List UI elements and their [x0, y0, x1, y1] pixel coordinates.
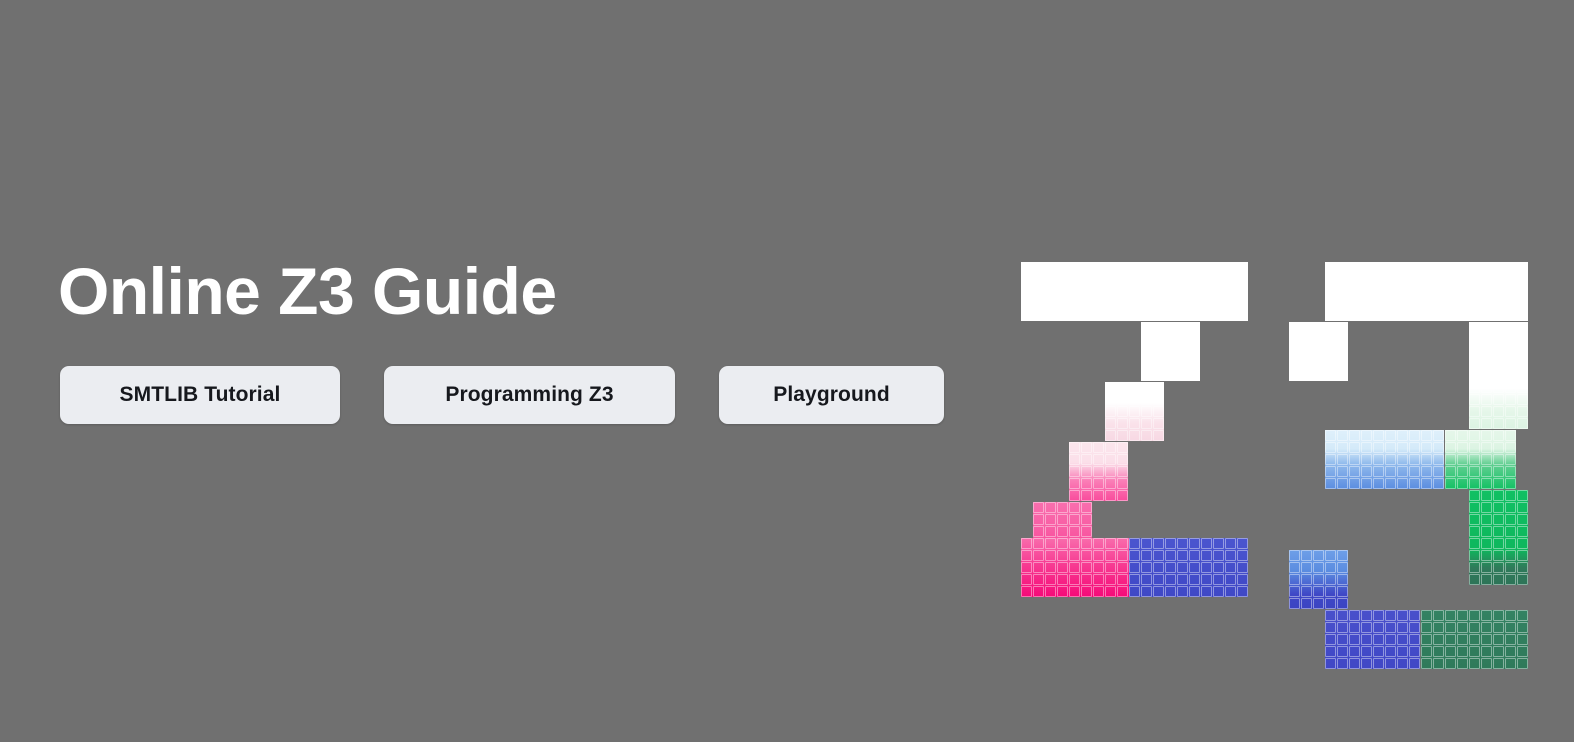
pixel-cell	[1325, 310, 1336, 321]
pixel-cell	[1517, 346, 1528, 357]
pixel-cell	[1325, 454, 1336, 465]
pixel-cell	[1153, 418, 1164, 429]
pixel-cell	[1457, 454, 1468, 465]
pixel-cell	[1129, 562, 1140, 573]
pixel-cell	[1301, 346, 1312, 357]
pixel-cell	[1481, 658, 1492, 669]
pixel-cell	[1505, 406, 1516, 417]
pixel-cell	[1189, 358, 1200, 369]
pixel-cell	[1493, 490, 1504, 501]
pixel-cell	[1189, 322, 1200, 333]
pixel-cell	[1141, 406, 1152, 417]
pixel-cell	[1433, 442, 1444, 453]
pixel-cell	[1177, 562, 1188, 573]
pixel-cell	[1033, 262, 1044, 273]
pixel-cell	[1505, 466, 1516, 477]
pixel-cell	[1493, 394, 1504, 405]
pixel-cell	[1081, 310, 1092, 321]
seven-bottom-bar-blue	[1129, 538, 1248, 597]
pixel-cell	[1093, 586, 1104, 597]
pixel-cell	[1505, 502, 1516, 513]
pixel-cell	[1421, 634, 1432, 645]
pixel-cell	[1225, 310, 1236, 321]
pixel-cell	[1093, 478, 1104, 489]
pixel-cell	[1337, 430, 1348, 441]
pixel-cell	[1469, 562, 1480, 573]
pixel-cell	[1189, 286, 1200, 297]
pixel-cell	[1177, 550, 1188, 561]
pixel-cell	[1105, 310, 1116, 321]
pixel-cell	[1457, 262, 1468, 273]
pixel-cell	[1469, 634, 1480, 645]
pixel-cell	[1021, 310, 1032, 321]
pixel-cell	[1457, 430, 1468, 441]
pixel-cell	[1325, 430, 1336, 441]
pixel-cell	[1385, 286, 1396, 297]
pixel-cell	[1153, 346, 1164, 357]
pixel-cell	[1069, 466, 1080, 477]
pixel-cell	[1493, 550, 1504, 561]
pixel-cell	[1045, 538, 1056, 549]
pixel-cell	[1165, 334, 1176, 345]
pixel-cell	[1129, 550, 1140, 561]
pixel-cell	[1493, 346, 1504, 357]
pixel-cell	[1129, 394, 1140, 405]
pixel-cell	[1093, 550, 1104, 561]
pixel-cell	[1517, 322, 1528, 333]
pixel-cell	[1397, 286, 1408, 297]
pixel-cell	[1069, 586, 1080, 597]
pixel-cell	[1505, 430, 1516, 441]
pixel-cell	[1493, 622, 1504, 633]
pixel-cell	[1289, 598, 1300, 609]
pixel-cell	[1313, 598, 1324, 609]
pixel-cell	[1153, 586, 1164, 597]
pixel-cell	[1045, 514, 1056, 525]
pixel-cell	[1469, 550, 1480, 561]
pixel-cell	[1069, 262, 1080, 273]
pixel-cell	[1301, 574, 1312, 585]
pixel-cell	[1505, 262, 1516, 273]
pixel-cell	[1457, 298, 1468, 309]
pixel-cell	[1141, 262, 1152, 273]
pixel-cell	[1469, 646, 1480, 657]
pixel-cell	[1189, 262, 1200, 273]
pixel-cell	[1289, 346, 1300, 357]
pixel-cell	[1225, 562, 1236, 573]
pixel-cell	[1093, 262, 1104, 273]
playground-button[interactable]: Playground	[719, 366, 944, 424]
pixel-cell	[1057, 586, 1068, 597]
pixel-cell	[1505, 490, 1516, 501]
pixel-cell	[1201, 562, 1212, 573]
pixel-cell	[1469, 622, 1480, 633]
pixel-cell	[1069, 442, 1080, 453]
pixel-cell	[1385, 658, 1396, 669]
pixel-cell	[1397, 262, 1408, 273]
pixel-cell	[1177, 310, 1188, 321]
pixel-cell	[1105, 538, 1116, 549]
pixel-cell	[1325, 562, 1336, 573]
pixel-cell	[1117, 382, 1128, 393]
pixel-cell	[1033, 586, 1044, 597]
pixel-cell	[1361, 262, 1372, 273]
pixel-cell	[1033, 550, 1044, 561]
pixel-cell	[1213, 586, 1224, 597]
pixel-cell	[1129, 430, 1140, 441]
pixel-cell	[1397, 658, 1408, 669]
pixel-cell	[1385, 646, 1396, 657]
pixel-cell	[1517, 358, 1528, 369]
pixel-cell	[1481, 646, 1492, 657]
pixel-cell	[1517, 550, 1528, 561]
pixel-cell	[1105, 490, 1116, 501]
pixel-cell	[1141, 550, 1152, 561]
pixel-cell	[1165, 274, 1176, 285]
pixel-cell	[1433, 310, 1444, 321]
pixel-cell	[1397, 646, 1408, 657]
pixel-cell	[1153, 286, 1164, 297]
pixel-cell	[1505, 334, 1516, 345]
seven-step-2	[1069, 442, 1128, 501]
pixel-cell	[1141, 586, 1152, 597]
pixel-cell	[1033, 274, 1044, 285]
pixel-cell	[1373, 622, 1384, 633]
pixel-cell	[1337, 286, 1348, 297]
pixel-cell	[1505, 658, 1516, 669]
pixel-cell	[1517, 538, 1528, 549]
pixel-cell	[1045, 550, 1056, 561]
pixel-cell	[1421, 310, 1432, 321]
pixel-cell	[1033, 310, 1044, 321]
pixel-cell	[1385, 298, 1396, 309]
pixel-cell	[1445, 442, 1456, 453]
pixel-cell	[1409, 646, 1420, 657]
smtlib-tutorial-button[interactable]: SMTLIB Tutorial	[60, 366, 340, 424]
pixel-cell	[1397, 622, 1408, 633]
pixel-cell	[1505, 478, 1516, 489]
pixel-cell	[1373, 274, 1384, 285]
z3-pixel-logo	[1021, 262, 1521, 592]
pixel-cell	[1433, 634, 1444, 645]
pixel-cell	[1349, 430, 1360, 441]
pixel-cell	[1457, 274, 1468, 285]
pixel-cell	[1057, 262, 1068, 273]
pixel-cell	[1361, 622, 1372, 633]
pixel-cell	[1373, 454, 1384, 465]
three-lower-right-stem	[1469, 490, 1528, 585]
pixel-cell	[1081, 586, 1092, 597]
pixel-cell	[1301, 586, 1312, 597]
pixel-cell	[1093, 310, 1104, 321]
pixel-cell	[1505, 358, 1516, 369]
pixel-cell	[1033, 574, 1044, 585]
pixel-cell	[1189, 562, 1200, 573]
pixel-cell	[1325, 646, 1336, 657]
pixel-cell	[1081, 514, 1092, 525]
pixel-cell	[1457, 646, 1468, 657]
seven-step-1	[1105, 382, 1164, 441]
pixel-cell	[1493, 610, 1504, 621]
pixel-cell	[1105, 262, 1116, 273]
pixel-cell	[1105, 550, 1116, 561]
pixel-cell	[1457, 466, 1468, 477]
pixel-cell	[1105, 298, 1116, 309]
pixel-cell	[1153, 370, 1164, 381]
pixel-cell	[1445, 466, 1456, 477]
pixel-cell	[1337, 550, 1348, 561]
pixel-cell	[1361, 646, 1372, 657]
pixel-cell	[1069, 274, 1080, 285]
pixel-cell	[1225, 550, 1236, 561]
pixel-cell	[1117, 586, 1128, 597]
pixel-cell	[1165, 550, 1176, 561]
pixel-cell	[1505, 574, 1516, 585]
pixel-cell	[1493, 562, 1504, 573]
pixel-cell	[1141, 538, 1152, 549]
pixel-cell	[1045, 502, 1056, 513]
pixel-cell	[1481, 526, 1492, 537]
pixel-cell	[1457, 658, 1468, 669]
three-top-left-nub	[1289, 322, 1348, 381]
pixel-cell	[1153, 274, 1164, 285]
pixel-cell	[1289, 550, 1300, 561]
pixel-cell	[1397, 454, 1408, 465]
pixel-cell	[1373, 658, 1384, 669]
pixel-cell	[1469, 406, 1480, 417]
pixel-cell	[1481, 610, 1492, 621]
pixel-cell	[1469, 322, 1480, 333]
pixel-cell	[1397, 430, 1408, 441]
programming-z3-button[interactable]: Programming Z3	[384, 366, 675, 424]
pixel-cell	[1237, 538, 1248, 549]
pixel-cell	[1213, 286, 1224, 297]
pixel-cell	[1421, 286, 1432, 297]
pixel-cell	[1493, 334, 1504, 345]
pixel-cell	[1337, 370, 1348, 381]
pixel-cell	[1301, 358, 1312, 369]
pixel-cell	[1213, 298, 1224, 309]
pixel-cell	[1057, 310, 1068, 321]
pixel-cell	[1021, 562, 1032, 573]
pixel-cell	[1517, 370, 1528, 381]
pixel-cell	[1153, 382, 1164, 393]
pixel-cell	[1093, 442, 1104, 453]
pixel-cell	[1409, 442, 1420, 453]
pixel-cell	[1517, 610, 1528, 621]
pixel-cell	[1201, 262, 1212, 273]
pixel-cell	[1517, 274, 1528, 285]
pixel-cell	[1021, 574, 1032, 585]
pixel-cell	[1349, 622, 1360, 633]
pixel-cell	[1105, 454, 1116, 465]
pixel-cell	[1337, 358, 1348, 369]
pixel-cell	[1033, 514, 1044, 525]
pixel-cell	[1021, 586, 1032, 597]
pixel-cell	[1493, 262, 1504, 273]
pixel-cell	[1289, 322, 1300, 333]
pixel-cell	[1481, 562, 1492, 573]
pixel-cell	[1397, 442, 1408, 453]
pixel-cell	[1409, 622, 1420, 633]
pixel-cell	[1481, 622, 1492, 633]
pixel-cell	[1237, 274, 1248, 285]
pixel-cell	[1517, 562, 1528, 573]
pixel-cell	[1325, 658, 1336, 669]
pixel-cell	[1129, 538, 1140, 549]
pixel-cell	[1349, 658, 1360, 669]
pixel-cell	[1105, 394, 1116, 405]
pixel-cell	[1117, 286, 1128, 297]
pixel-cell	[1457, 310, 1468, 321]
pixel-cell	[1129, 586, 1140, 597]
hero-section: Online Z3 Guide SMTLIB Tutorial Programm…	[0, 0, 1574, 742]
pixel-cell	[1117, 274, 1128, 285]
pixel-cell	[1313, 358, 1324, 369]
pixel-cell	[1433, 466, 1444, 477]
pixel-cell	[1201, 586, 1212, 597]
pixel-cell	[1117, 310, 1128, 321]
pixel-cell	[1337, 442, 1348, 453]
pixel-cell	[1469, 514, 1480, 525]
pixel-cell	[1237, 298, 1248, 309]
pixel-cell	[1493, 454, 1504, 465]
pixel-cell	[1517, 262, 1528, 273]
pixel-cell	[1505, 634, 1516, 645]
pixel-cell	[1093, 298, 1104, 309]
seven-top-bar	[1021, 262, 1248, 321]
pixel-cell	[1153, 550, 1164, 561]
pixel-cell	[1337, 610, 1348, 621]
pixel-cell	[1433, 454, 1444, 465]
pixel-cell	[1361, 634, 1372, 645]
pixel-cell	[1141, 310, 1152, 321]
pixel-cell	[1493, 322, 1504, 333]
pixel-cell	[1469, 262, 1480, 273]
pixel-cell	[1397, 634, 1408, 645]
pixel-cell	[1469, 298, 1480, 309]
pixel-cell	[1421, 646, 1432, 657]
pixel-cell	[1469, 490, 1480, 501]
pixel-cell	[1141, 358, 1152, 369]
pixel-cell	[1385, 430, 1396, 441]
pixel-cell	[1033, 502, 1044, 513]
pixel-cell	[1361, 442, 1372, 453]
pixel-cell	[1153, 574, 1164, 585]
pixel-cell	[1349, 646, 1360, 657]
pixel-cell	[1153, 562, 1164, 573]
three-bottom-bar-blue	[1325, 610, 1420, 669]
pixel-cell	[1517, 646, 1528, 657]
pixel-cell	[1325, 442, 1336, 453]
pixel-cell	[1045, 562, 1056, 573]
pixel-cell	[1325, 346, 1336, 357]
pixel-cell	[1045, 298, 1056, 309]
pixel-cell	[1493, 310, 1504, 321]
pixel-cell	[1081, 274, 1092, 285]
pixel-cell	[1481, 322, 1492, 333]
pixel-cell	[1177, 346, 1188, 357]
pixel-cell	[1129, 274, 1140, 285]
pixel-cell	[1057, 286, 1068, 297]
pixel-cell	[1177, 538, 1188, 549]
pixel-cell	[1409, 274, 1420, 285]
three-middle-bar-green	[1445, 430, 1516, 489]
pixel-cell	[1517, 514, 1528, 525]
pixel-cell	[1213, 562, 1224, 573]
pixel-cell	[1445, 610, 1456, 621]
pixel-cell	[1057, 514, 1068, 525]
pixel-cell	[1481, 286, 1492, 297]
pixel-cell	[1117, 418, 1128, 429]
pixel-cell	[1445, 310, 1456, 321]
pixel-cell	[1409, 634, 1420, 645]
pixel-cell	[1373, 646, 1384, 657]
pixel-cell	[1421, 454, 1432, 465]
pixel-cell	[1397, 466, 1408, 477]
pixel-cell	[1021, 262, 1032, 273]
pixel-cell	[1457, 634, 1468, 645]
pixel-cell	[1517, 310, 1528, 321]
pixel-cell	[1385, 634, 1396, 645]
pixel-cell	[1325, 322, 1336, 333]
pixel-cell	[1445, 634, 1456, 645]
pixel-cell	[1201, 538, 1212, 549]
pixel-cell	[1361, 478, 1372, 489]
pixel-cell	[1493, 298, 1504, 309]
pixel-cell	[1481, 454, 1492, 465]
pixel-cell	[1117, 298, 1128, 309]
pixel-cell	[1469, 358, 1480, 369]
pixel-cell	[1481, 466, 1492, 477]
pixel-cell	[1493, 358, 1504, 369]
pixel-cell	[1481, 358, 1492, 369]
pixel-cell	[1117, 562, 1128, 573]
pixel-cell	[1505, 274, 1516, 285]
pixel-cell	[1325, 574, 1336, 585]
pixel-cell	[1409, 454, 1420, 465]
pixel-cell	[1445, 454, 1456, 465]
pixel-cell	[1421, 442, 1432, 453]
pixel-cell	[1225, 574, 1236, 585]
pixel-cell	[1457, 610, 1468, 621]
pixel-cell	[1517, 658, 1528, 669]
pixel-cell	[1481, 370, 1492, 381]
pixel-cell	[1349, 286, 1360, 297]
pixel-cell	[1093, 466, 1104, 477]
pixel-cell	[1165, 538, 1176, 549]
pixel-cell	[1141, 286, 1152, 297]
pixel-cell	[1165, 574, 1176, 585]
pixel-cell	[1469, 658, 1480, 669]
pixel-cell	[1469, 538, 1480, 549]
pixel-cell	[1301, 370, 1312, 381]
pixel-cell	[1337, 562, 1348, 573]
pixel-cell	[1517, 634, 1528, 645]
pixel-cell	[1409, 310, 1420, 321]
pixel-cell	[1337, 658, 1348, 669]
pixel-cell	[1409, 610, 1420, 621]
pixel-cell	[1469, 274, 1480, 285]
pixel-cell	[1337, 310, 1348, 321]
pixel-cell	[1057, 538, 1068, 549]
pixel-cell	[1385, 622, 1396, 633]
pixel-cell	[1189, 538, 1200, 549]
pixel-cell	[1093, 538, 1104, 549]
pixel-cell	[1189, 310, 1200, 321]
pixel-cell	[1469, 442, 1480, 453]
pixel-cell	[1445, 430, 1456, 441]
